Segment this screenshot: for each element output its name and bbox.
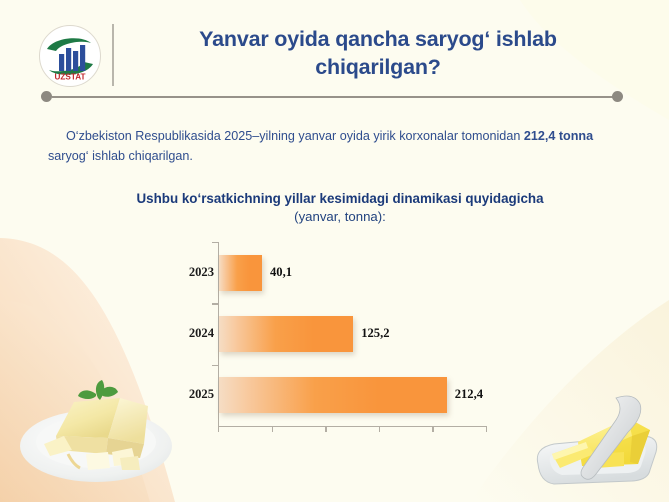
bar-value-label: 125,2 — [361, 326, 389, 341]
x-axis-tick — [379, 426, 380, 432]
page-title-line2: chiqarilgan? — [128, 54, 628, 82]
header: UZSTAT Yanvar oyida qancha saryog‘ ishla… — [0, 0, 669, 100]
bar-value-label: 40,1 — [270, 265, 292, 280]
bar-2024 — [219, 316, 353, 352]
paragraph-text-2: saryog‘ ishlab chiqarilgan. — [48, 149, 193, 163]
bar-2025 — [219, 377, 447, 413]
divider-line — [52, 96, 616, 98]
chart-heading-main: Ushbu ko‘rsatkichning yillar kesimidagi … — [60, 190, 620, 208]
y-axis-tick — [212, 303, 218, 304]
x-axis — [218, 426, 486, 427]
uzstat-logo: UZSTAT — [38, 24, 102, 88]
x-axis-tick — [325, 426, 326, 432]
bar-row: 202340,1 — [170, 255, 550, 291]
page-title-line1: Yanvar oyida qancha saryog‘ ishlab — [128, 26, 628, 54]
chart-heading-sub: (yanvar, tonna): — [60, 208, 620, 226]
bar-row: 2025212,4 — [170, 377, 550, 413]
x-axis-tick — [218, 426, 219, 432]
intro-paragraph: O‘zbekiston Respublikasida 2025–yilning … — [48, 126, 628, 167]
x-axis-tick — [272, 426, 273, 432]
x-axis-tick — [486, 426, 487, 432]
butter-blocks-on-plate-photo — [8, 358, 190, 498]
bar-chart: 202340,12024125,22025212,4 — [170, 236, 550, 441]
divider-dot-left — [41, 91, 52, 102]
header-separator — [112, 24, 114, 86]
chart-heading: Ushbu ko‘rsatkichning yillar kesimidagi … — [60, 190, 620, 226]
paragraph-highlight: 212,4 tonna — [524, 129, 593, 143]
y-axis-tick — [212, 365, 218, 366]
x-axis-tick — [432, 426, 433, 432]
paragraph-text-1: O‘zbekiston Respublikasida 2025–yilning … — [66, 129, 524, 143]
bar-2023 — [219, 255, 262, 291]
y-axis-tick — [212, 242, 218, 243]
bar-category-label: 2025 — [170, 387, 214, 402]
bar-value-label: 212,4 — [455, 387, 483, 402]
divider-dot-right — [612, 91, 623, 102]
bar-category-label: 2024 — [170, 326, 214, 341]
page-title: Yanvar oyida qancha saryog‘ ishlab chiqa… — [128, 26, 628, 82]
bar-category-label: 2023 — [170, 265, 214, 280]
bar-row: 2024125,2 — [170, 316, 550, 352]
logo-text: UZSTAT — [54, 73, 85, 82]
